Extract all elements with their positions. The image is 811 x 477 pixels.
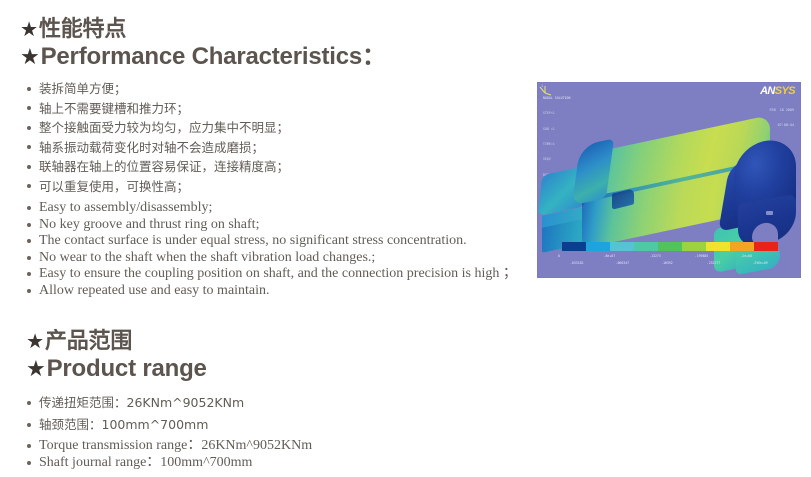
star-icon: ★ [20,43,40,73]
list-item-text: 可以重复使用，可换性高； [39,179,189,194]
list-item: No key groove and thrust ring on shaft; [26,217,517,234]
list-item-text: Shaft journal range：100mm^700mm [39,455,252,470]
legend-swatch [610,242,634,251]
legend-swatch [682,242,706,251]
legend-swatch [658,242,682,251]
list-item: 轴颈范围：100mm^700mm [26,414,244,436]
legend-label: .232277 [707,261,753,265]
performance-list-cn: 装拆简单方便； 轴上不需要键槽和推力环； 整个接触面受力较为均匀，应力集中不明显… [26,79,289,196]
product-range-heading-block: ★产品范围 ★Product range [26,328,207,385]
legend-swatch [730,242,754,251]
list-item: Easy to assembly/disassembly; [26,200,517,217]
performance-heading-block: ★性能特点 ★Performance Characteristics： [20,16,386,73]
list-item: No wear to the shaft when the shaft vibr… [26,250,517,267]
list-item-text: 传递扭矩范围：26KNm^9052KNm [39,395,244,410]
list-item: Torque transmission range：26KNm^9052KNm [26,437,312,454]
list-item: 轴系振动载荷变化时对轴不会造成磨损； [26,138,289,158]
list-item-text: 轴上不需要键槽和推力环； [39,101,189,116]
product-range-heading-cn: ★产品范围 [26,328,207,354]
axis-triad-icon [538,83,554,97]
list-item-text: 装拆简单方便； [39,81,127,96]
list-item: 装拆简单方便； [26,79,289,99]
legend-label: .13273 [649,254,695,258]
list-item: 传递扭矩范围：26KNm^9052KNm [26,392,244,414]
legend-label: 0 [558,254,604,258]
list-item: Allow repeated use and easy to maintain. [26,283,517,300]
legend-label: .066347 [616,261,662,265]
list-item-text: Easy to ensure the coupling position on … [39,266,517,281]
list-item: The contact surface is under equal stres… [26,233,517,250]
legend-swatch [706,242,730,251]
list-item-text: Easy to assembly/disassembly; [39,200,212,215]
product-range-list-cn: 传递扭矩范围：26KNm^9052KNm 轴颈范围：100mm^700mm [26,392,244,436]
model-hub-mark [766,211,773,215]
legend-label: .199885 [695,254,741,258]
list-item: Easy to ensure the coupling position on … [26,266,517,283]
legend-swatch [754,242,778,251]
product-range-heading-cn-text: 产品范围 [45,328,132,353]
ansys-fea-figure: 1 ANSYS NODAL SOLUTION STEP=1 SUB =1 TIM… [537,82,801,278]
fea-legend-labels-bottom: .033182 .066347 .16592 .232277 .296e+09 [570,261,798,265]
list-item-text: Torque transmission range：26KNm^9052KNm [39,438,312,453]
legend-swatch [634,242,658,251]
performance-heading-en-text: Performance Characteristics： [41,43,386,70]
legend-label: .16592 [661,261,707,265]
performance-list-en: Easy to assembly/disassembly; No key gro… [26,200,517,299]
list-item-text: 轴系振动载荷变化时对轴不会造成磨损； [39,140,264,155]
star-icon: ★ [26,355,46,385]
list-item-text: No key groove and thrust ring on shaft; [39,217,259,232]
legend-swatch [562,242,586,251]
legend-swatch [586,242,610,251]
star-icon: ★ [26,328,44,354]
list-item: 整个接触面受力较为均匀，应力集中不明显； [26,118,289,138]
list-item: 可以重复使用，可换性高； [26,177,289,197]
list-item-text: No wear to the shaft when the shaft vibr… [39,250,375,265]
list-item: Shaft journal range：100mm^700mm [26,454,312,471]
list-item-text: 整个接触面受力较为均匀，应力集中不明显； [39,120,289,135]
product-range-heading-en: ★Product range [26,354,207,385]
list-item: 联轴器在轴上的位置容易保证，连接精度高； [26,157,289,177]
legend-label: .033182 [570,261,616,265]
legend-label: .8e+07 [604,254,650,258]
list-item: 轴上不需要键槽和推力环； [26,99,289,119]
performance-heading-cn-text: 性能特点 [39,16,126,41]
list-item-text: 轴颈范围：100mm^700mm [39,417,208,432]
performance-heading-en: ★Performance Characteristics： [20,42,386,73]
product-range-heading-en-text: Product range [47,355,207,382]
fea-color-legend [562,242,778,251]
performance-heading-cn: ★性能特点 [20,16,386,42]
list-item-text: 联轴器在轴上的位置容易保证，连接精度高； [39,159,289,174]
fea-legend-labels-top: 0 .8e+07 .13273 .199885 .2e+08 [558,254,786,258]
list-item-text: Allow repeated use and easy to maintain. [39,283,270,298]
legend-label: .296e+09 [752,261,798,265]
legend-label: .2e+08 [740,254,786,258]
product-range-list-en: Torque transmission range：26KNm^9052KNm … [26,437,312,471]
star-icon: ★ [20,16,38,42]
list-item-text: The contact surface is under equal stres… [39,233,467,248]
